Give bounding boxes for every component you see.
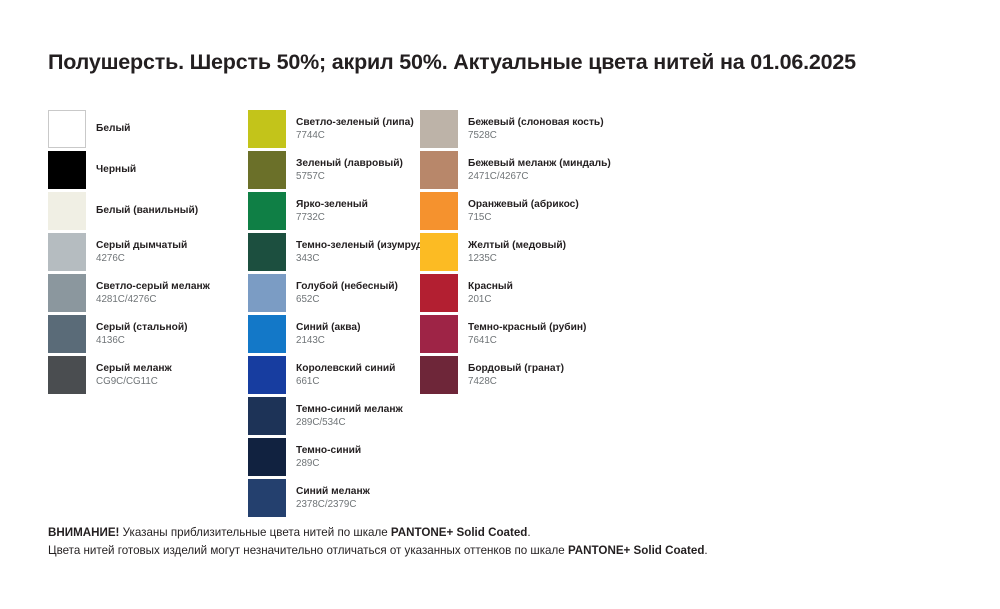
swatch-label-group: Светло-серый меланж4281C/4276C [96, 274, 210, 312]
footer-note: ВНИМАНИЕ! Указаны приблизительные цвета … [48, 524, 958, 561]
swatch-pantone-code: 2143C [296, 335, 360, 348]
swatch-row[interactable]: Оранжевый (абрикос)715C [420, 192, 710, 233]
swatch-label-group: Бордовый (гранат)7428C [468, 356, 564, 394]
swatch-name: Синий меланж [296, 485, 370, 498]
swatch-label-group: Синий меланж2378C/2379C [296, 479, 370, 517]
swatch-name: Серый меланж [96, 362, 172, 375]
swatch-row[interactable]: Ярко-зеленый7732C [248, 192, 420, 233]
swatch-name: Голубой (небесный) [296, 280, 398, 293]
swatch-name: Оранжевый (абрикос) [468, 198, 579, 211]
swatch-pantone-code: 661C [296, 376, 395, 389]
color-swatch[interactable] [420, 233, 458, 271]
column-neutrals: БелыйЧерныйБелый (ванильный)Серый дымчат… [48, 110, 248, 397]
swatch-row[interactable]: Голубой (небесный)652C [248, 274, 420, 315]
swatch-label-group: Темно-красный (рубин)7641C [468, 315, 586, 353]
swatch-label-group: Серый дымчатый4276C [96, 233, 187, 271]
swatch-name: Темно-синий меланж [296, 403, 403, 416]
swatch-row[interactable]: Серый (стальной)4136C [48, 315, 248, 356]
color-swatch[interactable] [420, 356, 458, 394]
column-greens-blues: Светло-зеленый (липа)7744CЗеленый (лавро… [248, 110, 420, 520]
swatch-name: Светло-зеленый (липа) [296, 116, 414, 129]
swatch-row[interactable]: Темно-красный (рубин)7641C [420, 315, 710, 356]
swatch-row[interactable]: Бордовый (гранат)7428C [420, 356, 710, 397]
footer-line-2-text: Цвета нитей готовых изделий могут незнач… [48, 544, 568, 557]
swatch-pantone-code: 201C [468, 294, 513, 307]
swatch-row[interactable]: Черный [48, 151, 248, 192]
swatch-label-group: Желтый (медовый)1235C [468, 233, 566, 271]
footer-line-1: ВНИМАНИЕ! Указаны приблизительные цвета … [48, 524, 958, 542]
swatch-row[interactable]: Темно-синий меланж289C/534C [248, 397, 420, 438]
swatch-row[interactable]: Королевский синий661C [248, 356, 420, 397]
color-swatch[interactable] [420, 110, 458, 148]
color-swatch[interactable] [48, 151, 86, 189]
color-swatch[interactable] [248, 274, 286, 312]
color-swatch[interactable] [420, 192, 458, 230]
swatch-label-group: Белый (ванильный) [96, 192, 198, 230]
swatch-pantone-code: 7641C [468, 335, 586, 348]
swatch-label-group: Синий (аква)2143C [296, 315, 360, 353]
footer-line-2: Цвета нитей готовых изделий могут незнач… [48, 542, 958, 560]
footer-brand-1: PANTONE+ Solid Coated [391, 526, 527, 539]
color-swatch[interactable] [248, 110, 286, 148]
swatch-pantone-code: CG9C/CG11C [96, 376, 172, 389]
page-title: Полушерсть. Шерсть 50%; акрил 50%. Актуа… [48, 50, 968, 75]
swatch-label-group: Темно-синий289C [296, 438, 361, 476]
swatch-label-group: Серый (стальной)4136C [96, 315, 188, 353]
swatch-label-group: Светло-зеленый (липа)7744C [296, 110, 414, 148]
swatch-name: Темно-зеленый (изумруд) [296, 239, 426, 252]
swatch-name: Королевский синий [296, 362, 395, 375]
color-swatch[interactable] [48, 356, 86, 394]
swatch-label-group: Голубой (небесный)652C [296, 274, 398, 312]
swatch-pantone-code: 7428C [468, 376, 564, 389]
color-swatch[interactable] [48, 315, 86, 353]
footer-brand-2: PANTONE+ Solid Coated [568, 544, 704, 557]
swatch-pantone-code: 4276C [96, 253, 187, 266]
swatch-pantone-code: 343C [296, 253, 426, 266]
swatch-row[interactable]: Желтый (медовый)1235C [420, 233, 710, 274]
color-swatch[interactable] [248, 192, 286, 230]
swatch-label-group: Ярко-зеленый7732C [296, 192, 368, 230]
swatch-row[interactable]: Бежевый меланж (миндаль)2471C/4267C [420, 151, 710, 192]
swatch-row[interactable]: Синий (аква)2143C [248, 315, 420, 356]
swatch-row[interactable]: Белый [48, 110, 248, 151]
swatch-name: Красный [468, 280, 513, 293]
swatch-row[interactable]: Светло-зеленый (липа)7744C [248, 110, 420, 151]
footer-line-2-end: . [704, 544, 707, 557]
color-swatch[interactable] [420, 274, 458, 312]
swatch-label-group: Бежевый (слоновая кость)7528C [468, 110, 604, 148]
swatch-row[interactable]: Зеленый (лавровый)5757C [248, 151, 420, 192]
swatch-name: Бежевый (слоновая кость) [468, 116, 604, 129]
swatch-name: Темно-синий [296, 444, 361, 457]
swatch-label-group: Зеленый (лавровый)5757C [296, 151, 403, 189]
swatch-name: Серый (стальной) [96, 321, 188, 334]
swatch-name: Зеленый (лавровый) [296, 157, 403, 170]
swatch-label-group: Белый [96, 110, 130, 148]
color-swatch[interactable] [248, 397, 286, 435]
swatch-label-group: Королевский синий661C [296, 356, 395, 394]
swatch-name: Черный [96, 163, 136, 176]
swatch-name: Бежевый меланж (миндаль) [468, 157, 611, 170]
swatch-row[interactable]: Серый меланжCG9C/CG11C [48, 356, 248, 397]
color-card-page: Полушерсть. Шерсть 50%; акрил 50%. Актуа… [0, 0, 1000, 609]
swatch-pantone-code: 289C [296, 458, 361, 471]
swatch-row[interactable]: Темно-синий289C [248, 438, 420, 479]
swatch-name: Серый дымчатый [96, 239, 187, 252]
swatch-name: Светло-серый меланж [96, 280, 210, 293]
swatch-name: Темно-красный (рубин) [468, 321, 586, 334]
color-swatch[interactable] [420, 315, 458, 353]
color-swatch[interactable] [48, 274, 86, 312]
swatch-pantone-code: 289C/534C [296, 417, 403, 430]
swatch-name: Бордовый (гранат) [468, 362, 564, 375]
swatch-label-group: Темно-синий меланж289C/534C [296, 397, 403, 435]
color-swatch[interactable] [248, 438, 286, 476]
swatch-pantone-code: 7528C [468, 130, 604, 143]
color-swatch[interactable] [420, 151, 458, 189]
swatch-pantone-code: 4136C [96, 335, 188, 348]
swatch-pantone-code: 2471C/4267C [468, 171, 611, 184]
swatch-pantone-code: 715C [468, 212, 579, 225]
swatch-label-group: Оранжевый (абрикос)715C [468, 192, 579, 230]
color-swatch[interactable] [48, 192, 86, 230]
color-swatch[interactable] [248, 233, 286, 271]
swatch-label-group: Красный201C [468, 274, 513, 312]
footer-line-1-end: . [527, 526, 530, 539]
swatch-label-group: Темно-зеленый (изумруд)343C [296, 233, 426, 271]
swatch-pantone-code: 2378C/2379C [296, 499, 370, 512]
swatch-row[interactable]: Бежевый (слоновая кость)7528C [420, 110, 710, 151]
column-warm: Бежевый (слоновая кость)7528CБежевый мел… [420, 110, 710, 397]
color-swatch[interactable] [248, 479, 286, 517]
footer-attention-label: ВНИМАНИЕ! [48, 526, 119, 539]
swatch-row[interactable]: Светло-серый меланж4281C/4276C [48, 274, 248, 315]
swatch-label-group: Черный [96, 151, 136, 189]
swatch-label-group: Серый меланжCG9C/CG11C [96, 356, 172, 394]
footer-line-1-text: Указаны приблизительные цвета нитей по ш… [119, 526, 390, 539]
color-swatch[interactable] [48, 110, 86, 148]
swatch-name: Белый (ванильный) [96, 204, 198, 217]
color-swatch[interactable] [248, 151, 286, 189]
swatch-label-group: Бежевый меланж (миндаль)2471C/4267C [468, 151, 611, 189]
swatch-pantone-code: 7744C [296, 130, 414, 143]
swatch-row[interactable]: Серый дымчатый4276C [48, 233, 248, 274]
swatch-name: Желтый (медовый) [468, 239, 566, 252]
swatch-row[interactable]: Синий меланж2378C/2379C [248, 479, 420, 520]
swatch-name: Белый [96, 122, 130, 135]
swatch-pantone-code: 7732C [296, 212, 368, 225]
swatch-row[interactable]: Красный201C [420, 274, 710, 315]
swatch-name: Ярко-зеленый [296, 198, 368, 211]
swatch-pantone-code: 652C [296, 294, 398, 307]
color-swatch[interactable] [248, 315, 286, 353]
swatch-row[interactable]: Темно-зеленый (изумруд)343C [248, 233, 420, 274]
swatch-pantone-code: 4281C/4276C [96, 294, 210, 307]
swatch-row[interactable]: Белый (ванильный) [48, 192, 248, 233]
swatch-pantone-code: 1235C [468, 253, 566, 266]
color-swatch[interactable] [248, 356, 286, 394]
color-swatch[interactable] [48, 233, 86, 271]
swatch-name: Синий (аква) [296, 321, 360, 334]
swatch-pantone-code: 5757C [296, 171, 403, 184]
